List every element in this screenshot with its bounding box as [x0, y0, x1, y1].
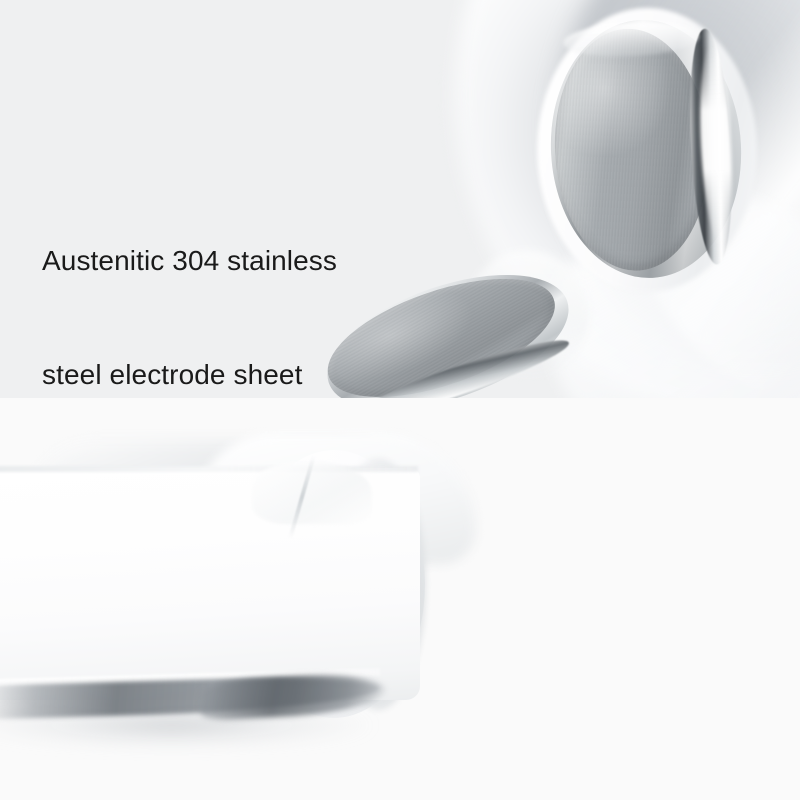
product-feature-poster: Austenitic 304 stainless steel electrode… [0, 0, 800, 800]
electrode-caption-line-1: Austenitic 304 stainless [42, 242, 428, 280]
electrode-caption: Austenitic 304 stainless steel electrode… [42, 166, 428, 398]
electrode-feature-panel: Austenitic 304 stainless steel electrode… [0, 0, 800, 398]
elastic-arm-feature-panel: Elastic Arm Technology Good resilience a… [0, 398, 800, 800]
arm-end-cap-bevel-highlight [252, 462, 372, 524]
electrode-caption-line-2: steel electrode sheet [42, 356, 428, 394]
